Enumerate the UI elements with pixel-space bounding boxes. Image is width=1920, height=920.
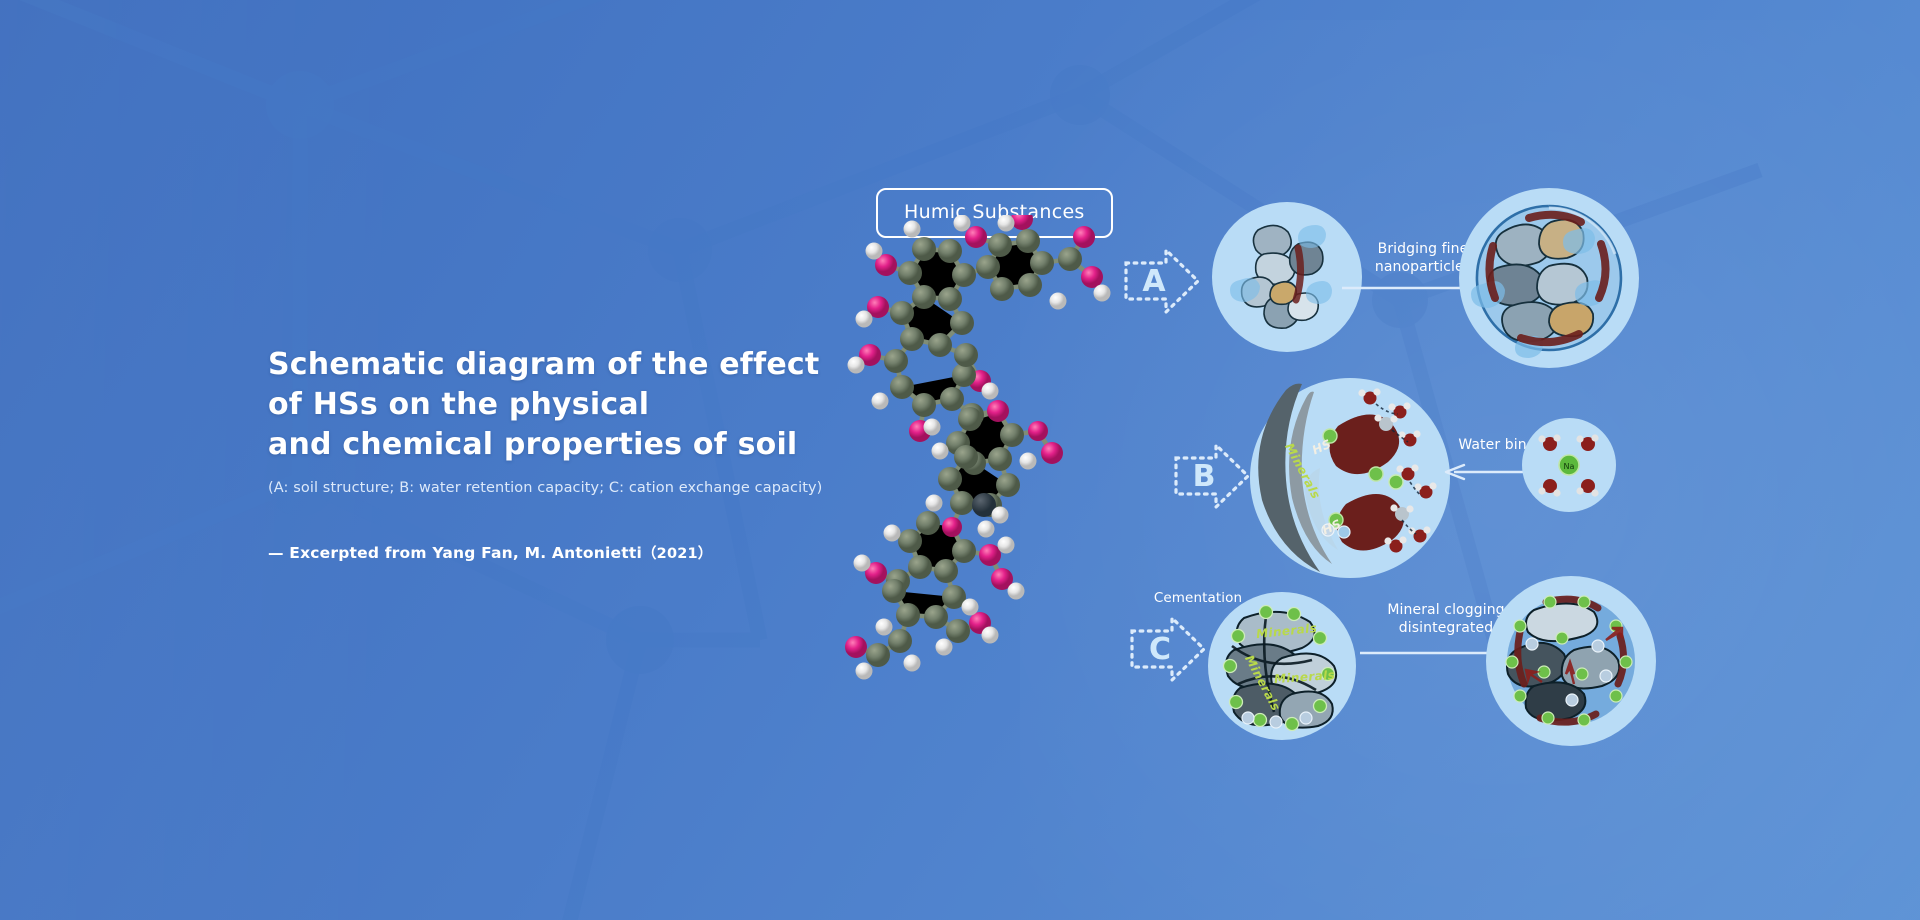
headline-block: Schematic diagram of the effect of HSs o… (268, 345, 908, 563)
poster-canvas: Schematic diagram of the effect of HSs o… (0, 0, 1920, 920)
stage-arrow-a[interactable]: A (1122, 245, 1202, 317)
stage-arrow-b[interactable]: B (1172, 440, 1252, 512)
cemented-aggregate-illustration (1208, 592, 1356, 740)
humic-substance-molecule-model (840, 215, 1170, 735)
attribution: — Excerpted from Yang Fan, M. Antonietti… (268, 542, 908, 563)
title-caption: (A: soil structure; B: water retention c… (268, 478, 908, 498)
circle-b-water-retention[interactable]: HS HS Minerals (1250, 378, 1450, 578)
page-title: Schematic diagram of the effect of HSs o… (268, 345, 908, 465)
circle-b-hydrated-ion[interactable]: Na (1522, 418, 1616, 512)
attribution-source: — Excerpted from Yang Fan, M. Antonietti (268, 544, 642, 562)
stage-arrow-c[interactable]: C (1128, 613, 1208, 685)
title-line-1: Schematic diagram of the effect (268, 345, 908, 385)
circle-c-disintegrated-aggregate[interactable] (1486, 576, 1656, 746)
stage-letter-a: A (1122, 245, 1202, 317)
circle-c-cemented-aggregate[interactable]: Minerals Minerals Minerals (1208, 592, 1356, 740)
hs-mineral-water-illustration (1250, 378, 1450, 578)
attribution-year: （2021） (642, 546, 713, 562)
circle-a-soil-aggregate[interactable] (1212, 202, 1362, 352)
title-line-2: of HSs on the physical (268, 385, 908, 425)
svg-text:Na: Na (1564, 462, 1575, 471)
stage-letter-c: C (1128, 613, 1208, 685)
title-line-3: and chemical properties of soil (268, 425, 908, 465)
circle-a-bridged-aggregate[interactable] (1459, 188, 1639, 368)
bridged-aggregate-illustration (1459, 188, 1639, 368)
stage-letter-b: B (1172, 440, 1252, 512)
hydrated-sodium-ion-illustration: Na (1522, 418, 1616, 512)
disintegrated-aggregate-illustration (1486, 576, 1656, 746)
soil-particle-illustration (1212, 202, 1362, 352)
